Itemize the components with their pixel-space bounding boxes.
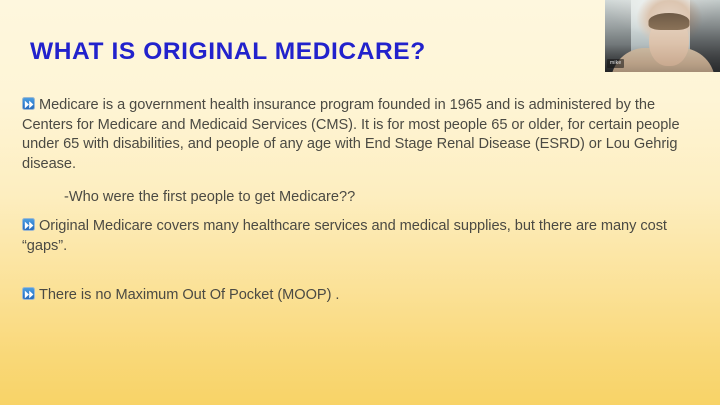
slide-body: Medicare is a government health insuranc… xyxy=(22,96,698,306)
bullet-paragraph-3-text: There is no Maximum Out Of Pocket (MOOP)… xyxy=(39,287,339,303)
fast-forward-bullet-icon xyxy=(22,287,35,300)
bullet-paragraph-1: Medicare is a government health insuranc… xyxy=(22,96,698,174)
spacer xyxy=(22,174,698,188)
bullet-paragraph-2: Original Medicare covers many healthcare… xyxy=(22,217,698,256)
presentation-slide: What is Original Medicare? Medicare is a… xyxy=(0,0,720,405)
bullet-paragraph-2-text: Original Medicare covers many healthcare… xyxy=(22,218,667,254)
webcam-participant-label: mike xyxy=(607,59,624,68)
fast-forward-bullet-icon xyxy=(22,97,35,110)
presenter-webcam-tile[interactable]: mike xyxy=(605,0,720,72)
sub-question-line: -Who were the first people to get Medica… xyxy=(64,188,698,208)
page-title: What is Original Medicare? xyxy=(30,38,426,66)
bullet-paragraph-1-text: Medicare is a government health insuranc… xyxy=(22,97,680,172)
spacer xyxy=(22,208,698,217)
presenter-hair xyxy=(649,13,690,30)
fast-forward-bullet-icon xyxy=(22,218,35,231)
spacer xyxy=(22,256,698,286)
bullet-paragraph-3: There is no Maximum Out Of Pocket (MOOP)… xyxy=(22,286,698,306)
